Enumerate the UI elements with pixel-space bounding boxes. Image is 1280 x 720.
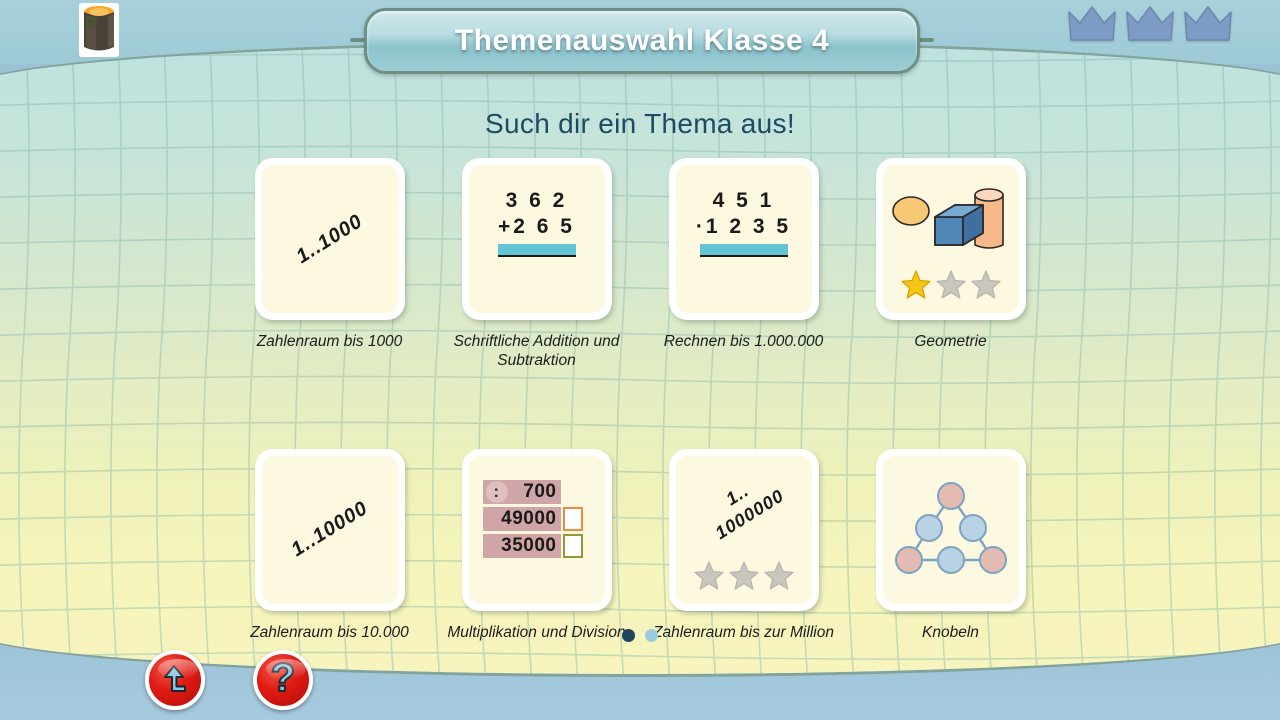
app-background: Themenauswahl Klasse 4 Such dir ein Them… (0, 0, 1280, 720)
topic-card-geometrie[interactable] (876, 158, 1026, 320)
help-button[interactable]: ? (253, 650, 313, 710)
topic-label: Schriftliche Addition und Subtraktion (442, 332, 632, 371)
topic-label: Zahlenraum bis 1000 (235, 332, 425, 351)
back-arrow-icon (158, 661, 192, 700)
star-icon-empty (764, 561, 794, 595)
star-icon-empty (694, 561, 724, 595)
answer-box[interactable] (563, 507, 583, 531)
topic-cell-schriftliche-addition-subtraktion: 3 6 2 +2 6 5 Schriftliche Addition und S… (462, 158, 612, 371)
topic-card-zahlenraum-1000[interactable]: 1..1000 (255, 158, 405, 320)
page-dot[interactable] (645, 629, 658, 642)
operand-top: 4 5 1 (676, 189, 812, 213)
star-icon-empty (936, 270, 966, 304)
topic-label: Rechnen bis 1.000.000 (649, 332, 839, 351)
division-header-row: : 700 (483, 480, 583, 504)
division-header-cell: : 700 (483, 480, 561, 504)
operand-bottom: +2 6 5 (469, 215, 605, 239)
number-range-icon: 1..10000 (262, 456, 398, 604)
number-range-icon: 1..1000 (262, 165, 398, 313)
topic-cell-zahlenraum-million: 1.. 1000000 (669, 449, 819, 642)
page-dot-active[interactable] (622, 629, 635, 642)
column-addition-icon: 3 6 2 +2 6 5 (469, 189, 605, 257)
back-button[interactable] (145, 650, 205, 710)
star-icon-empty (971, 270, 1001, 304)
answer-bar (498, 244, 576, 257)
crown-group (1068, 4, 1232, 49)
topic-card-zahlenraum-million[interactable]: 1.. 1000000 (669, 449, 819, 611)
puzzle-triangle-icon (883, 470, 1019, 595)
operand-bottom: ·1 2 3 5 (676, 215, 812, 239)
topic-row-2: 1..10000 Zahlenraum bis 10.000 : 700 (0, 449, 1280, 642)
topic-card-schriftliche-addition-subtraktion[interactable]: 3 6 2 +2 6 5 (462, 158, 612, 320)
dividend-value: 35000 (483, 534, 561, 558)
topic-card-multiplikation-division[interactable]: : 700 49000 35000 (462, 449, 612, 611)
star-rating (676, 561, 812, 595)
column-multiplication-icon: 4 5 1 ·1 2 3 5 (676, 189, 812, 257)
page-title: Themenauswahl Klasse 4 (455, 24, 830, 58)
topic-card-rechnen-bis-million[interactable]: 4 5 1 ·1 2 3 5 (669, 158, 819, 320)
crown-icon (1068, 4, 1116, 49)
topic-cell-zahlenraum-10000: 1..10000 Zahlenraum bis 10.000 (255, 449, 405, 642)
division-table-icon: : 700 49000 35000 (483, 480, 583, 561)
question-mark-icon: ? (271, 658, 295, 698)
banner-connector-right (918, 38, 934, 42)
division-operator: : (486, 481, 508, 503)
star-rating (883, 270, 1019, 304)
range-text: 1..1000 (292, 209, 368, 269)
headline: Such dir ein Thema aus! (0, 108, 1280, 140)
solid-shapes-icon (883, 171, 1019, 263)
footer-buttons: ? (145, 650, 313, 710)
operand-top: 3 6 2 (469, 189, 605, 213)
division-row: 35000 (483, 534, 583, 558)
answer-box[interactable] (563, 534, 583, 558)
battery-icon (78, 2, 120, 58)
divisor-value: 700 (523, 481, 556, 503)
range-text: 1..10000 (286, 496, 372, 563)
topic-cell-geometrie: Geometrie (876, 158, 1026, 371)
pagination-dots (0, 629, 1280, 642)
topic-cell-rechnen-bis-million: 4 5 1 ·1 2 3 5 Rechnen bis 1.000.000 (669, 158, 819, 371)
dividend-value: 49000 (483, 507, 561, 531)
crown-icon (1126, 4, 1174, 49)
answer-bar (700, 244, 788, 257)
topic-card-zahlenraum-10000[interactable]: 1..10000 (255, 449, 405, 611)
star-icon-filled (901, 270, 931, 304)
topic-grid: 1..1000 Zahlenraum bis 1000 3 6 2 +2 6 5 (0, 158, 1280, 642)
topic-row-1: 1..1000 Zahlenraum bis 1000 3 6 2 +2 6 5 (0, 158, 1280, 371)
division-row: 49000 (483, 507, 583, 531)
topic-card-knobeln[interactable] (876, 449, 1026, 611)
topic-cell-multiplikation-division: : 700 49000 35000 (462, 449, 612, 642)
topic-label: Geometrie (856, 332, 1046, 351)
crown-icon (1184, 4, 1232, 49)
topic-cell-knobeln: Knobeln (876, 449, 1026, 642)
star-icon-empty (729, 561, 759, 595)
title-banner: Themenauswahl Klasse 4 (364, 8, 920, 74)
topic-cell-zahlenraum-1000: 1..1000 Zahlenraum bis 1000 (255, 158, 405, 371)
